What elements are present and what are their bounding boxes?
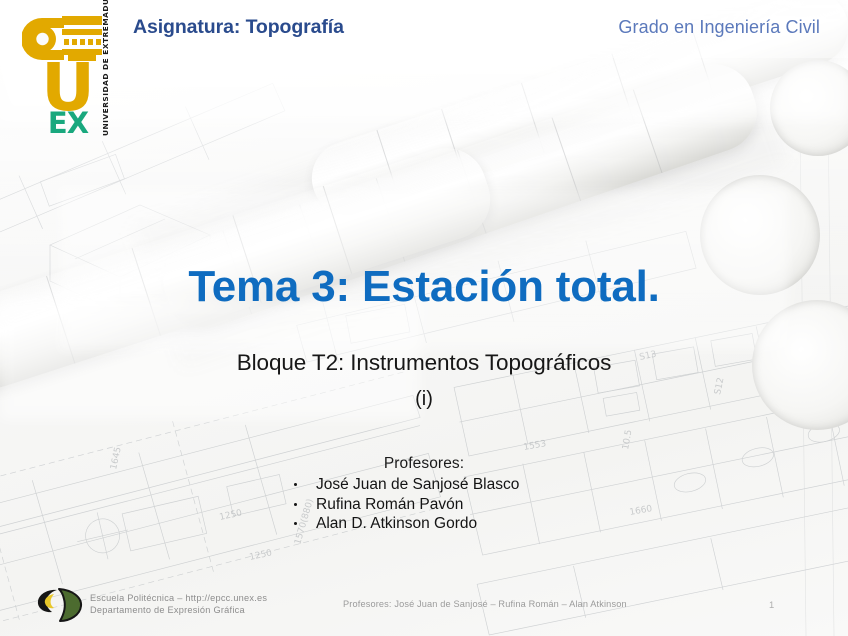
footer-school-info: Escuela Politécnica – http://epcc.unex.e…: [90, 592, 267, 616]
subject-title: Asignatura: Topografía: [133, 16, 344, 39]
subtitle-part-line: (i): [0, 388, 848, 411]
professors-block: Profesores: José Juan de Sanjosé Blasco …: [0, 455, 848, 534]
svg-text:EX: EX: [48, 106, 89, 138]
page-title: Tema 3: Estación total.: [0, 265, 848, 309]
footer-school-line-2: Departamento de Expresión Gráfica: [90, 604, 267, 616]
degree-title: Grado en Ingeniería Civil: [618, 17, 820, 38]
professors-list: José Juan de Sanjosé Blasco Rufina Román…: [290, 475, 590, 534]
bullet-icon: [294, 503, 297, 506]
list-item: Alan D. Atkinson Gordo: [290, 514, 590, 534]
professors-heading: Profesores:: [0, 455, 848, 473]
footer-school-line-1: Escuela Politécnica – http://epcc.unex.e…: [90, 592, 267, 604]
svg-text:10.5: 10.5: [621, 429, 634, 450]
epcc-leaf-logo: [36, 586, 84, 622]
uex-vertical-wordmark: UNIVERSIDAD DE EXTREMADURA: [92, 8, 110, 136]
list-item: Rufina Román Pavón: [290, 495, 590, 515]
bullet-icon: [294, 483, 297, 486]
professor-name: Rufina Román Pavón: [316, 496, 463, 513]
page-number: 1: [769, 599, 774, 610]
footer-credit: Profesores: José Juan de Sanjosé – Rufin…: [343, 599, 627, 609]
svg-text:1553: 1553: [523, 439, 547, 453]
bullet-icon: [294, 522, 297, 525]
svg-text:1250: 1250: [249, 548, 274, 563]
presentation-slide: S13 S12 10.5 1660 1645 1250 1250 1570(88…: [0, 0, 848, 636]
professor-name: José Juan de Sanjosé Blasco: [316, 476, 519, 493]
professor-name: Alan D. Atkinson Gordo: [316, 515, 477, 532]
subtitle-block-line: Bloque T2: Instrumentos Topográficos: [0, 350, 848, 376]
list-item: José Juan de Sanjosé Blasco: [290, 475, 590, 495]
